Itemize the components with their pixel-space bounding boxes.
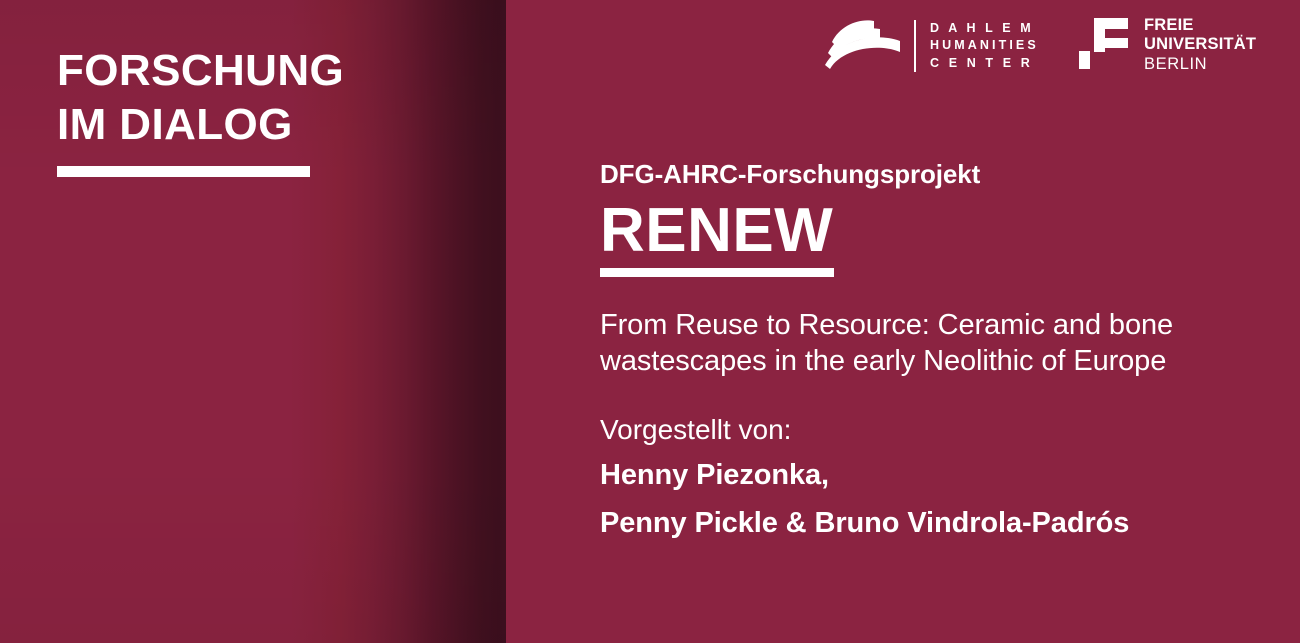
dahlem-logo-divider xyxy=(914,20,916,72)
project-title-underline xyxy=(600,268,834,277)
dahlem-humanities-center-mark-icon xyxy=(822,20,906,72)
project-title: RENEW xyxy=(600,198,1260,264)
freie-universitaet-berlin-mark-icon xyxy=(1076,14,1132,72)
presented-by-label: Vorgestellt von: xyxy=(600,413,1260,447)
series-headline-line-1: FORSCHUNG xyxy=(57,44,344,98)
presenter-name-2: Penny Pickle & Bruno Vindrola-Padrós xyxy=(600,505,1260,541)
dahlem-wordmark-line-3: C E N T E R xyxy=(930,55,1039,73)
presenter-name-1: Henny Piezonka, xyxy=(600,457,1260,493)
dahlem-wordmark-line-2: HUMANITIES xyxy=(930,37,1039,55)
freie-universitaet-berlin-wordmark: FREIE UNIVERSITÄT BERLIN xyxy=(1144,14,1256,75)
series-headline-line-2: IM DIALOG xyxy=(57,98,344,152)
dahlem-humanities-center-wordmark: D A H L E M HUMANITIES C E N T E R xyxy=(930,20,1039,73)
freie-universitaet-berlin-logo: FREIE UNIVERSITÄT BERLIN xyxy=(1076,14,1256,76)
series-headline-underline xyxy=(57,166,310,177)
dahlem-wordmark-line-1: D A H L E M xyxy=(930,20,1039,38)
event-poster: FORSCHUNG IM DIALOG D A H L E M HUMANITI… xyxy=(0,0,1300,643)
fu-wordmark-line-2: UNIVERSITÄT xyxy=(1144,35,1256,54)
series-headline: FORSCHUNG IM DIALOG xyxy=(57,44,344,177)
dahlem-humanities-center-logo: D A H L E M HUMANITIES C E N T E R xyxy=(822,17,1039,75)
event-details: DFG-AHRC-Forschungsprojekt RENEW From Re… xyxy=(600,158,1260,541)
project-funding-eyebrow: DFG-AHRC-Forschungsprojekt xyxy=(600,158,1260,190)
fu-wordmark-line-1: FREIE xyxy=(1144,16,1256,35)
fu-wordmark-line-3: BERLIN xyxy=(1144,54,1256,75)
project-subtitle: From Reuse to Resource: Ceramic and bone… xyxy=(600,307,1200,379)
